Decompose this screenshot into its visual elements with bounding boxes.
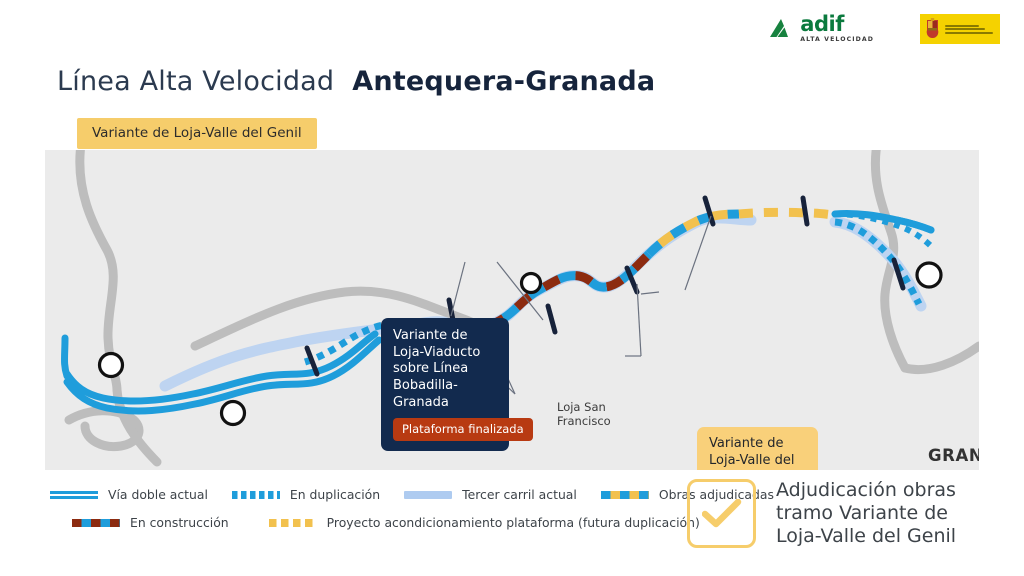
legend-swatch-via-doble-actual <box>50 491 98 499</box>
legend-item-en-construccion: En construcción <box>72 515 229 530</box>
infographic-root: adif ALTA VELOCIDAD Línea Alta Velocidad… <box>0 0 1024 576</box>
station-marker-loja-san-francisco <box>522 274 541 293</box>
callout-variante-valle-del-genil[interactable]: Variante de Loja-Valle del Genil <box>697 427 818 470</box>
map-legend: Vía doble actual En duplicación Tercer c… <box>50 487 680 543</box>
logo-bar: adif ALTA VELOCIDAD <box>768 14 1000 44</box>
award-callout: Adjudicación obras tramo Variante de Loj… <box>687 479 956 549</box>
legend-label-tercer-carril-actual: Tercer carril actual <box>462 487 577 502</box>
legend-row-1: Vía doble actual En duplicación Tercer c… <box>50 487 680 502</box>
legend-label-en-duplicacion: En duplicación <box>290 487 380 502</box>
callout-viaducto-text: Variante de Loja-Viaducto sobre Línea Bo… <box>393 328 480 410</box>
third-lane-corridor <box>165 218 921 386</box>
title-corridor: Antequera-Granada <box>352 66 655 97</box>
legend-swatch-obras-adjudicadas <box>601 491 649 499</box>
ministry-logo <box>920 14 1000 44</box>
legend-label-via-doble-actual: Vía doble actual <box>108 487 208 502</box>
station-marker-antequera <box>222 402 245 425</box>
station-marker-antequera-santa-ana <box>100 354 123 377</box>
award-check-box <box>687 479 756 548</box>
legend-swatch-en-duplicacion <box>232 491 280 499</box>
legend-swatch-proyecto-acondicionamiento <box>269 519 317 527</box>
adif-tagline: ALTA VELOCIDAD <box>800 37 874 43</box>
station-label-granada: GRANADA <box>928 447 979 465</box>
ministry-wordmark <box>945 25 993 34</box>
station-marker-granada <box>917 263 941 287</box>
map-canvas: ANTEQUERA SANTA ANA ANTEQUERA GRANADA Lo… <box>45 150 979 470</box>
legend-label-en-construccion: En construcción <box>130 515 229 530</box>
page-title: Línea Alta Velocidad Antequera-Granada <box>57 66 655 97</box>
spain-coat-of-arms-icon <box>924 18 941 40</box>
legend-item-via-doble-actual: Vía doble actual <box>50 487 208 502</box>
adif-wordmark: adif <box>800 14 874 35</box>
place-label-loja-san-francisco: Loja San Francisco <box>557 401 611 429</box>
adif-arrow-icon <box>768 16 794 42</box>
track-proyecto-acondicionamiento <box>739 212 833 215</box>
legend-swatch-en-construccion <box>72 519 120 527</box>
track-en-duplicacion-east <box>835 222 919 304</box>
station-markers <box>100 263 942 425</box>
title-line-name: Línea Alta Velocidad <box>57 66 334 97</box>
legend-item-proyecto-acondicionamiento: Proyecto acondicionamiento plataforma (f… <box>269 515 700 530</box>
callout-variante-viaducto[interactable]: Variante de Loja-Viaducto sobre Línea Bo… <box>381 318 509 451</box>
adif-logo: adif ALTA VELOCIDAD <box>768 14 874 43</box>
section-chip: Variante de Loja-Valle del Genil <box>77 118 317 149</box>
check-icon <box>702 499 742 529</box>
legend-row-2: En construcción Proyecto acondicionamien… <box>50 515 680 530</box>
award-text: Adjudicación obras tramo Variante de Loj… <box>776 479 956 549</box>
status-badge-plataforma-finalizada: Plataforma finalizada <box>393 418 533 441</box>
legend-item-en-duplicacion: En duplicación <box>232 487 380 502</box>
legend-label-proyecto-acondicionamiento: Proyecto acondicionamiento plataforma (f… <box>327 515 700 530</box>
legend-item-tercer-carril-actual: Tercer carril actual <box>404 487 577 502</box>
legend-swatch-tercer-carril-actual <box>404 491 452 499</box>
